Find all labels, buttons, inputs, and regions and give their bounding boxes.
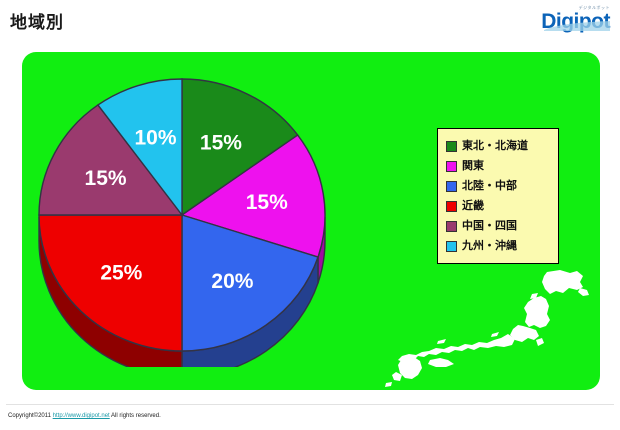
pie-slice-group [39, 79, 325, 351]
japan-map-illustration [384, 268, 594, 388]
copyright-prefix: Copyright©2011 [8, 413, 53, 419]
copyright-suffix: All rights reserved. [110, 413, 161, 419]
footer-divider [6, 404, 614, 405]
footer-copyright: Copyright©2011 http://www.digipot.net Al… [8, 413, 161, 419]
chart-legend: 東北・北海道関東北陸・中部近畿中国・四国九州・沖縄 [437, 128, 559, 264]
pie-slice-label: 15% [200, 131, 242, 154]
legend-item-label: 関東 [462, 161, 484, 172]
legend-item[interactable]: 中国・四国 [446, 216, 552, 236]
logo-tagline: デジタルポット [579, 6, 610, 10]
legend-swatch-icon [446, 161, 457, 172]
chart-panel: 15%15%20%25%15%10% 東北・北海道関東北陸・中部近畿中国・四国九… [22, 52, 600, 390]
legend-item-label: 東北・北海道 [462, 141, 528, 152]
footer-url-link[interactable]: http://www.digipot.net [53, 413, 110, 419]
pie-slice-label: 25% [100, 262, 142, 285]
slide-canvas: 地域別 デジタルポット Digipot [0, 0, 620, 430]
legend-swatch-icon [446, 181, 457, 192]
pie-slice-label: 15% [85, 167, 127, 190]
legend-item[interactable]: 近畿 [446, 196, 552, 216]
legend-swatch-icon [446, 201, 457, 212]
legend-item-label: 九州・沖縄 [462, 241, 517, 252]
legend-item-label: 近畿 [462, 201, 484, 212]
legend-item[interactable]: 九州・沖縄 [446, 236, 552, 256]
digipot-logo: デジタルポット Digipot [542, 7, 610, 35]
legend-swatch-icon [446, 241, 457, 252]
pie-chart: 15%15%20%25%15%10% [32, 67, 332, 367]
pie-slice-label: 10% [134, 126, 176, 149]
legend-item[interactable]: 東北・北海道 [446, 136, 552, 156]
legend-item[interactable]: 関東 [446, 156, 552, 176]
page-title: 地域別 [10, 8, 64, 33]
legend-swatch-icon [446, 221, 457, 232]
logo-swoosh-icon [544, 21, 610, 31]
legend-swatch-icon [446, 141, 457, 152]
legend-item-label: 中国・四国 [462, 221, 517, 232]
pie-slice-label: 20% [211, 270, 253, 293]
legend-item[interactable]: 北陸・中部 [446, 176, 552, 196]
pie-chart-svg: 15%15%20%25%15%10% [32, 67, 332, 367]
pie-slice-label: 15% [246, 191, 288, 214]
legend-item-label: 北陸・中部 [462, 181, 517, 192]
